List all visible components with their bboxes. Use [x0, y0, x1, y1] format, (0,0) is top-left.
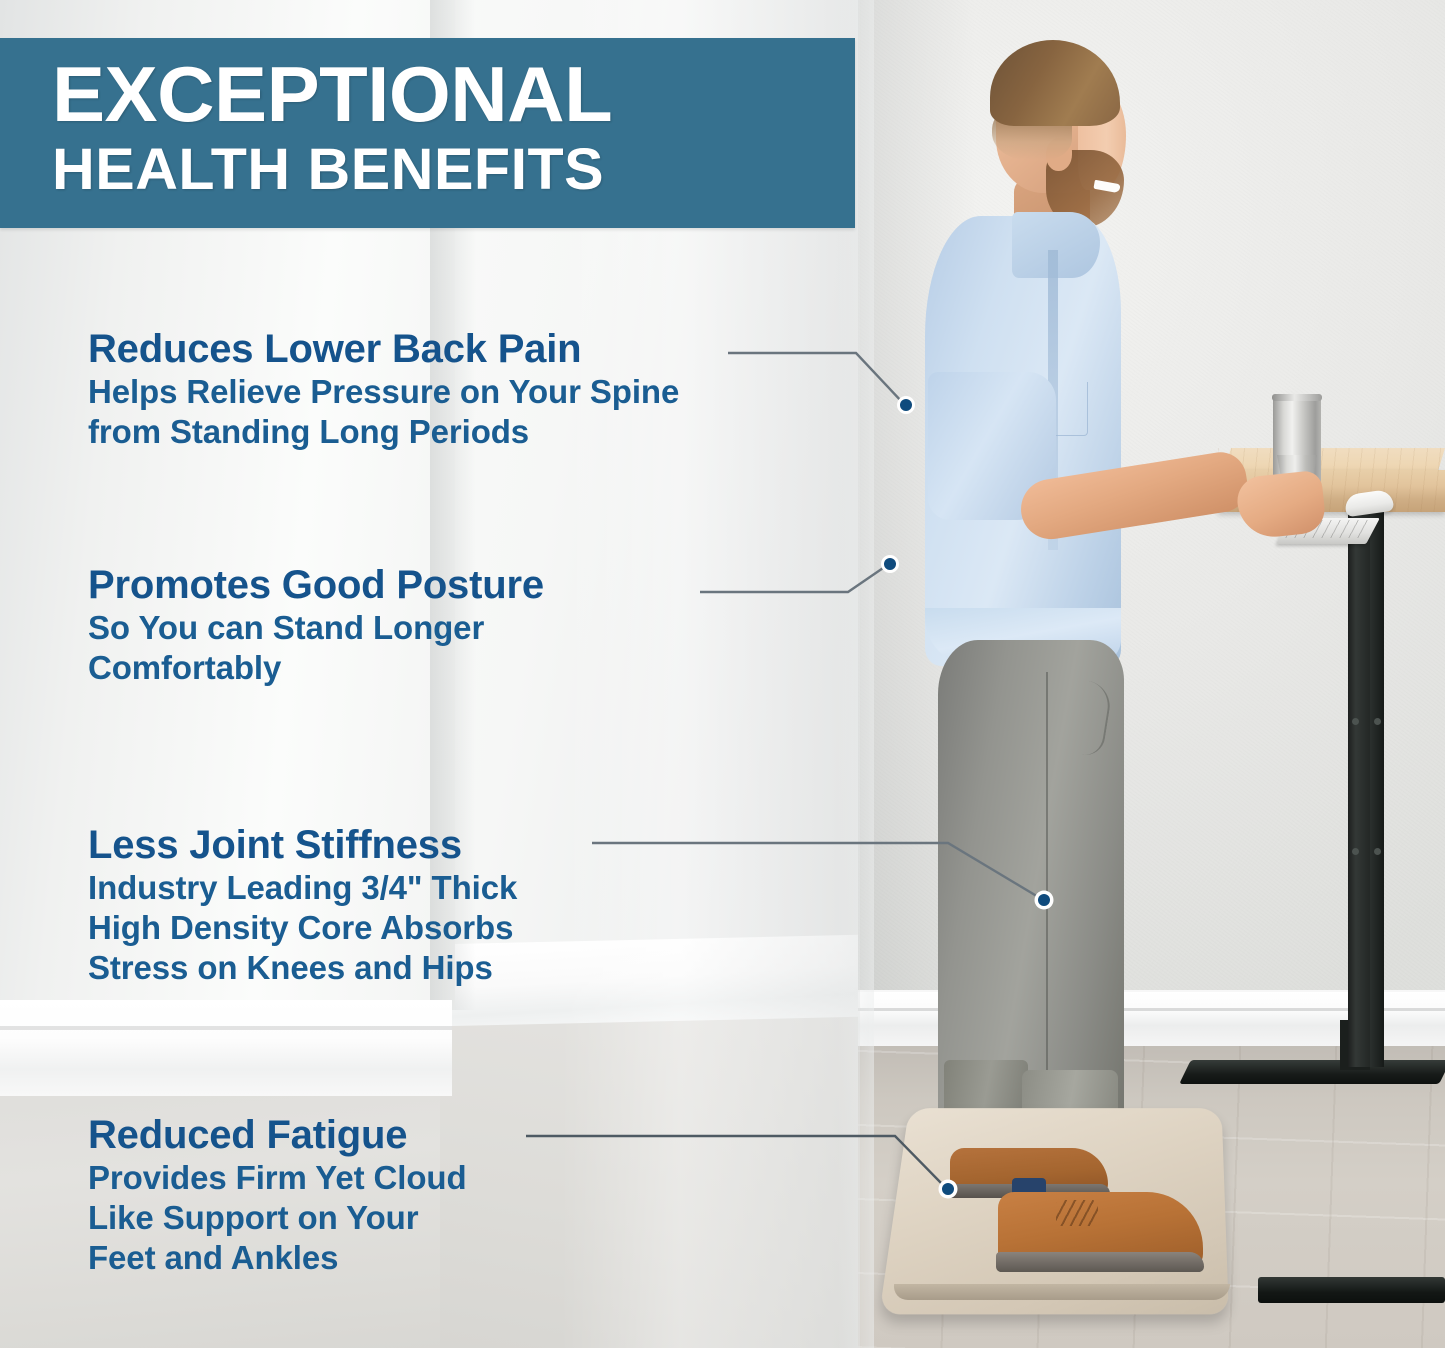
tumbler-lip	[1272, 394, 1322, 401]
pants-seam	[1046, 672, 1048, 1092]
benefit-line: Like Support on Your	[88, 1198, 467, 1238]
benefit-heading: Promotes Good Posture	[88, 562, 544, 608]
benefit-block-promotes-good-posture: Promotes Good Posture So You can Stand L…	[88, 562, 544, 688]
benefit-block-reduces-lower-back-pain: Reduces Lower Back Pain Helps Relieve Pr…	[88, 326, 679, 452]
benefit-line: Stress on Knees and Hips	[88, 948, 517, 988]
shoe-laces	[1056, 1200, 1098, 1226]
banner-title-line1: EXCEPTIONAL	[52, 50, 871, 138]
benefit-line: Industry Leading 3/4" Thick	[88, 868, 517, 908]
benefit-line: Feet and Ankles	[88, 1238, 467, 1278]
header-banner: EXCEPTIONAL HEALTH BENEFITS	[0, 38, 855, 228]
baseboard-left	[0, 1000, 452, 1096]
floor-left-far	[440, 1010, 858, 1348]
benefit-block-reduced-fatigue: Reduced Fatigue Provides Firm Yet Cloud …	[88, 1112, 467, 1278]
benefit-line: Helps Relieve Pressure on Your Spine	[88, 372, 679, 412]
desk-bolt-icon	[1352, 718, 1359, 725]
benefit-heading: Reduces Lower Back Pain	[88, 326, 679, 372]
desk-bolt-icon	[1374, 718, 1381, 725]
shoe-front-sole	[996, 1252, 1204, 1272]
benefit-heading: Reduced Fatigue	[88, 1112, 467, 1158]
banner-title-line2: HEALTH BENEFITS	[52, 138, 871, 202]
benefit-line: from Standing Long Periods	[88, 412, 679, 452]
desk-bolt-icon	[1352, 848, 1359, 855]
desk-bolt-icon	[1374, 848, 1381, 855]
benefit-line: High Density Core Absorbs	[88, 908, 517, 948]
benefit-line: Provides Firm Yet Cloud	[88, 1158, 467, 1198]
desk-leg-inner	[1370, 512, 1384, 1067]
desk-leg-column	[1348, 512, 1370, 1067]
desk-foot-front	[1258, 1277, 1445, 1303]
infographic-canvas: EXCEPTIONAL HEALTH BENEFITS Reduces Lowe…	[0, 0, 1445, 1348]
benefit-line: Comfortably	[88, 648, 544, 688]
benefit-heading: Less Joint Stiffness	[88, 822, 517, 868]
mat-front-edge	[892, 1284, 1230, 1300]
benefit-block-less-joint-stiffness: Less Joint Stiffness Industry Leading 3/…	[88, 822, 517, 988]
benefit-line: So You can Stand Longer	[88, 608, 544, 648]
desk-foot-back	[1179, 1060, 1445, 1084]
